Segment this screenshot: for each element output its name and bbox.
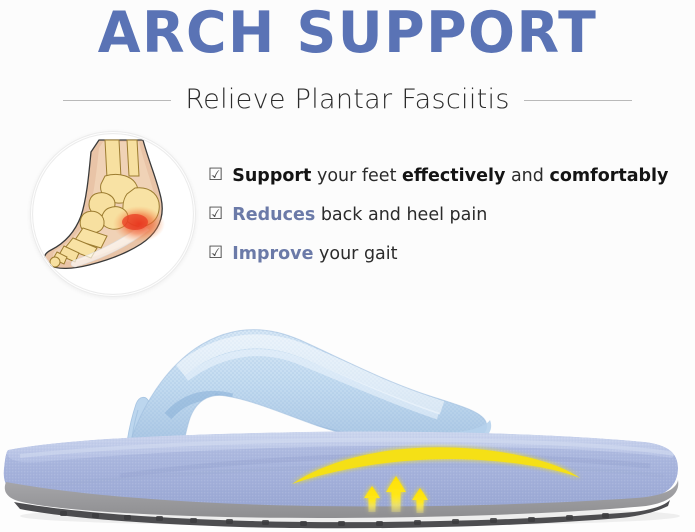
- checkbox-checked-icon: ☑: [208, 241, 223, 265]
- benefit-text-1: Support your feet effectively and comfor…: [232, 164, 668, 188]
- benefits-list: ☑ Support your feet effectively and comf…: [208, 164, 678, 281]
- subtitle-row: Relieve Plantar Fasciitis: [0, 82, 695, 118]
- divider-right: [524, 100, 632, 101]
- page-title: ARCH SUPPORT: [10, 2, 684, 64]
- benefit-item-1: ☑ Support your feet effectively and comf…: [208, 164, 678, 188]
- benefit-item-3: ☑ Improve your gait: [208, 242, 678, 266]
- checkbox-checked-icon: ☑: [208, 163, 223, 187]
- divider-left: [63, 100, 171, 101]
- product-banner: ARCH SUPPORT Relieve Plantar Fasciitis: [0, 0, 695, 532]
- checkbox-checked-icon: ☑: [208, 202, 223, 226]
- benefit-item-2: ☑ Reduces back and heel pain: [208, 203, 678, 227]
- product-photo: [0, 300, 695, 532]
- benefit-text-2: Reduces back and heel pain: [232, 203, 487, 227]
- benefit-text-3: Improve your gait: [232, 242, 397, 266]
- subtitle: Relieve Plantar Fasciitis: [185, 84, 509, 116]
- foot-anatomy-illustration: [30, 131, 196, 297]
